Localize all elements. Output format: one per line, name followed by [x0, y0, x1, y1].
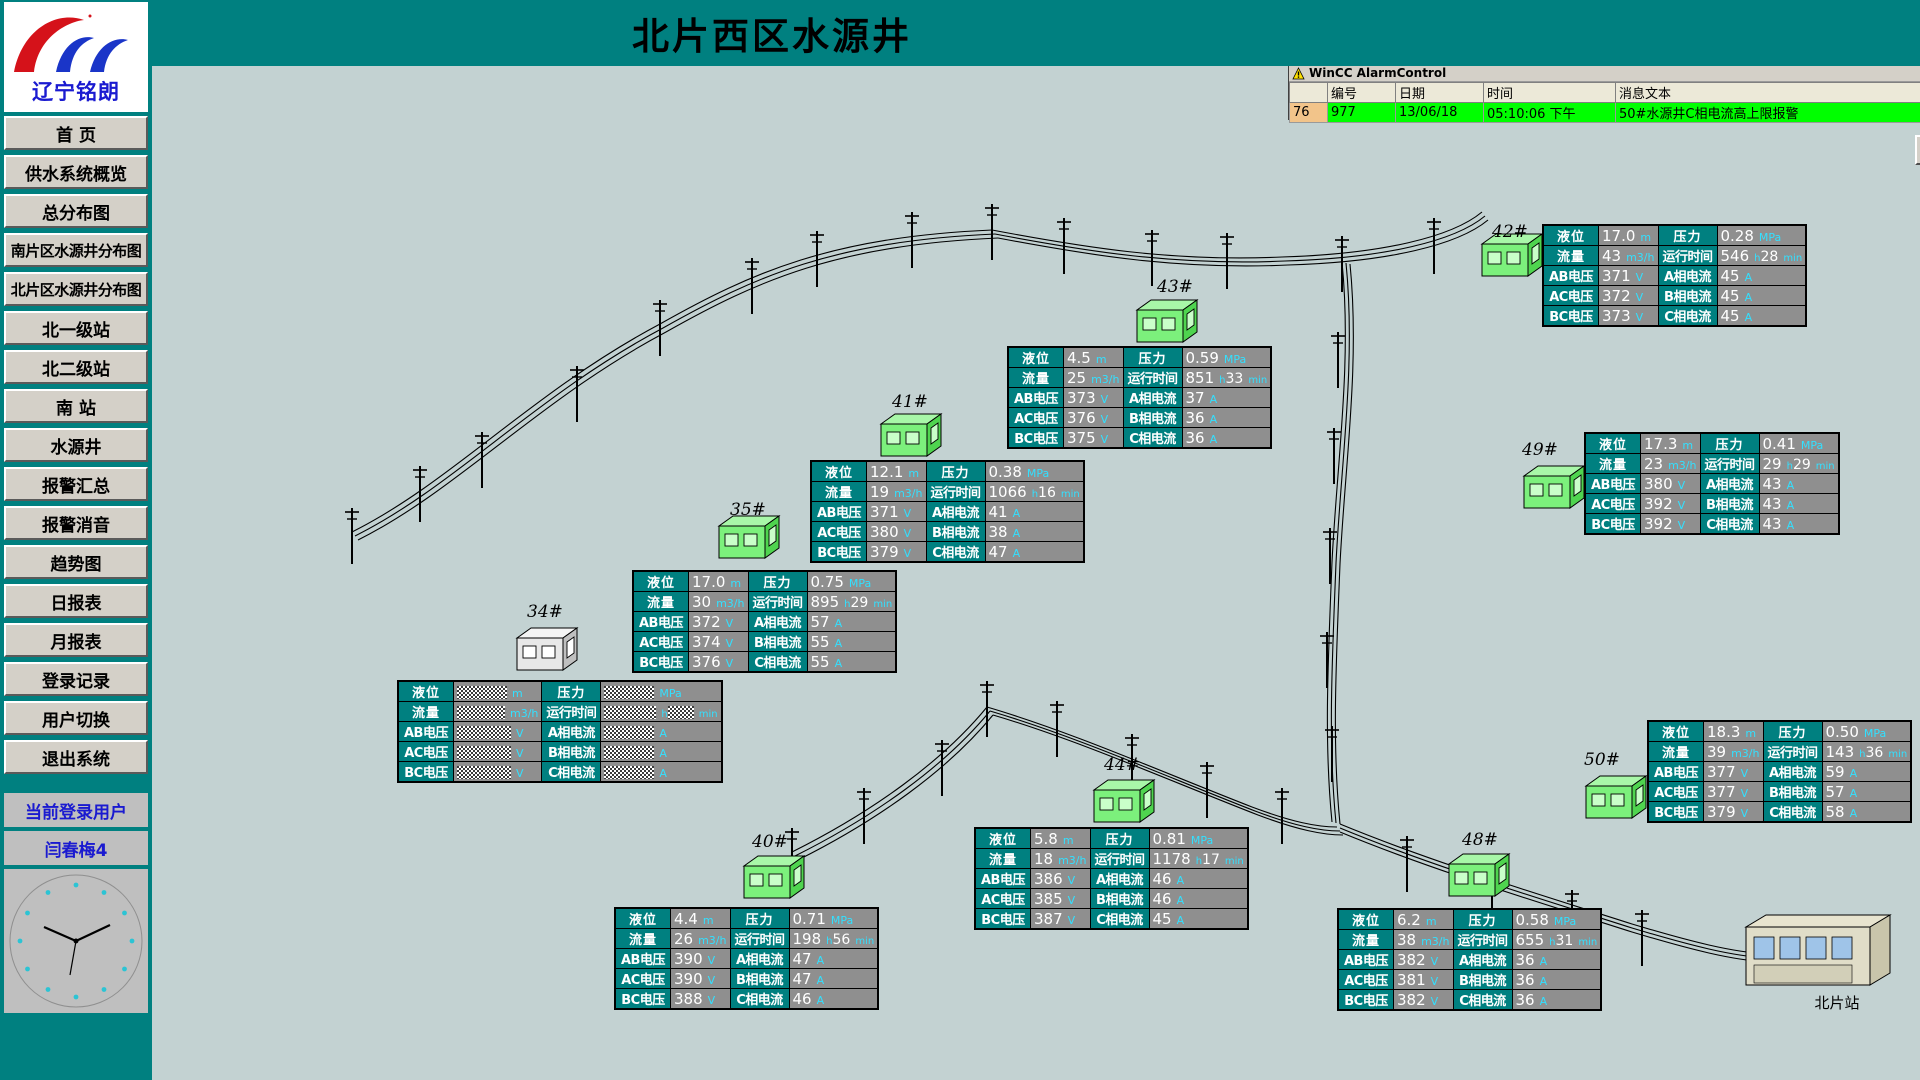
label-c-current: C相电流 — [542, 762, 600, 781]
unit-c_current: A — [830, 657, 843, 670]
label-bc-voltage: BC电压 — [634, 652, 688, 671]
number-bc_voltage: 388 — [674, 990, 703, 1008]
label-b-current: B相电流 — [542, 742, 600, 761]
number-flow: 23 — [1644, 455, 1663, 473]
label-pressure: 压力 — [1124, 348, 1182, 367]
alarm-column-header-2[interactable]: 日期 — [1396, 83, 1484, 103]
well-table-grid: 液位12.1m压力0.38MPa流量19m3/h运行时间1066h16minAB… — [811, 461, 1084, 562]
label-level: 液位 — [634, 572, 688, 591]
value-ab_voltage: 373V — [1064, 388, 1123, 407]
label-ab-voltage: AB电压 — [1586, 474, 1640, 493]
sidebar: 辽宁铭朗 首 页供水系统概览总分布图南片区水源井分布图北片区水源井分布图北一级站… — [0, 0, 152, 1080]
value-flow: 39m3/h — [1704, 742, 1763, 761]
number-c_current: 46 — [793, 990, 812, 1008]
well-data-table-48: 液位6.2m压力0.58MPa流量38m3/h运行时间655h31minAB电压… — [1337, 908, 1602, 1011]
sidebar-item-alarm-mute[interactable]: 报警消音 — [4, 506, 148, 540]
table-row-flow: 流量19m3/h运行时间1066h16min — [812, 482, 1083, 501]
unit-pressure: MPa — [826, 914, 853, 927]
value-pressure: 0.50MPa — [1823, 722, 1911, 741]
alarm-body[interactable]: 7697713/06/1805:10:06 下午50#水源井C相电流高上限报警 — [1290, 103, 1920, 123]
number-runtime-min: 56 — [832, 932, 850, 948]
unit-pressure: MPa — [1754, 231, 1781, 244]
value-ac_voltage: 377V — [1704, 782, 1763, 801]
alarm-table[interactable]: 编号日期时间消息文本 7697713/06/1805:10:06 下午50#水源… — [1289, 82, 1920, 123]
number-level: 12.1 — [870, 463, 903, 481]
alarm-window-title: WinCC AlarmControl — [1309, 66, 1446, 80]
label-flow: 流量 — [1586, 454, 1640, 473]
pump-house-34[interactable] — [515, 624, 581, 674]
number-bc_voltage: 379 — [870, 543, 899, 561]
value-ac_voltage: 385V — [1031, 889, 1090, 908]
unit-a_current: A — [1535, 955, 1548, 968]
unit-a_current: A — [1172, 874, 1185, 887]
label-a-current: A相电流 — [927, 502, 985, 521]
number-ac_voltage: 376 — [1067, 409, 1096, 427]
alarm-column-header-4[interactable]: 消息文本 — [1616, 83, 1920, 103]
well-data-table-43: 液位4.5m压力0.59MPa流量25m3/h运行时间851h33minAB电压… — [1007, 346, 1272, 449]
unit-runtime-hours: h — [1214, 375, 1225, 386]
number-a_current: 57 — [811, 613, 830, 631]
label-b-current: B相电流 — [1659, 286, 1717, 305]
table-row-flow: 流量23m3/h运行时间29h29min — [1586, 454, 1838, 473]
value-ac_voltage: 390V — [671, 969, 730, 988]
unit-flow: m3/h — [889, 487, 922, 500]
unit-level: m — [1677, 439, 1693, 452]
table-row-ab: AB电压VA相电流A — [399, 722, 721, 741]
number-ab_voltage: 390 — [674, 950, 703, 968]
label-a-current: A相电流 — [542, 722, 600, 741]
value-runtime: 143h36min — [1823, 742, 1911, 761]
number-runtime-h: 29 — [1763, 455, 1782, 473]
sidebar-item-south-station[interactable]: 南 站 — [4, 389, 148, 423]
value-b_current: 43A — [1760, 494, 1838, 513]
table-row-level: 液位m压力MPa — [399, 682, 721, 701]
table-row-bc: BC电压376VC相电流55A — [634, 652, 895, 671]
value-bc_voltage: 373V — [1599, 306, 1658, 325]
alarm-header-row[interactable]: 编号日期时间消息文本 — [1290, 83, 1920, 103]
label-a-current: A相电流 — [1454, 950, 1512, 969]
sidebar-item-water-wells[interactable]: 水源井 — [4, 428, 148, 462]
label-runtime: 运行时间 — [731, 929, 789, 948]
unit-ab_voltage: V — [1631, 271, 1644, 284]
unit-b_current: A — [1172, 894, 1185, 907]
number-ab_voltage: 382 — [1397, 951, 1426, 969]
unit-flow: m3/h — [1053, 854, 1086, 867]
unit-ac_voltage: V — [721, 637, 734, 650]
value-b_current: 36A — [1183, 408, 1271, 427]
well-table-grid: 液位4.5m压力0.59MPa流量25m3/h运行时间851h33minAB电压… — [1008, 347, 1271, 448]
well-table-grid: 液位4.4m压力0.71MPa流量26m3/h运行时间198h56minAB电压… — [615, 908, 878, 1009]
unit-b_current: A — [1008, 527, 1021, 540]
label-b-current: B相电流 — [1091, 889, 1149, 908]
label-ac-voltage: AC电压 — [399, 742, 453, 761]
value-bc_voltage: 379V — [1704, 802, 1763, 821]
value-ab_voltage: 382V — [1394, 950, 1453, 969]
label-ab-voltage: AB电压 — [812, 502, 866, 521]
sidebar-item-north-level1-station[interactable]: 北一级站 — [4, 311, 148, 345]
unit-runtime-hours: h — [656, 709, 667, 720]
well-data-table-41: 液位12.1m压力0.38MPa流量19m3/h运行时间1066h16minAB… — [810, 460, 1085, 563]
alarm-titlebar: WinCC AlarmControl _ □ × — [1289, 65, 1920, 82]
well-data-table-44: 液位5.8m压力0.81MPa流量18m3/h运行时间1178h17minAB电… — [974, 827, 1249, 930]
label-bc-voltage: BC电压 — [1009, 428, 1063, 447]
value-pressure: 0.28MPa — [1718, 226, 1806, 245]
number-c_current: 43 — [1763, 515, 1782, 533]
unit-bc_voltage: V — [1631, 311, 1644, 324]
value-c_current: 43A — [1760, 514, 1838, 533]
number-runtime-min: 33 — [1225, 371, 1243, 387]
label-level: 液位 — [399, 682, 453, 701]
value-bc_voltage: 388V — [671, 989, 730, 1008]
number-runtime-h: 546 — [1721, 247, 1750, 265]
label-ab-voltage: AB电压 — [616, 949, 670, 968]
label-c-current: C相电流 — [749, 652, 807, 671]
label-flow: 流量 — [1544, 246, 1598, 265]
label-ac-voltage: AC电压 — [1339, 970, 1393, 989]
value-c_current: 55A — [808, 652, 896, 671]
number-bc_voltage: 392 — [1644, 515, 1673, 533]
unit-c_current: A — [1535, 995, 1548, 1008]
unit-level: m — [1421, 915, 1437, 928]
number-b_current: 45 — [1721, 287, 1740, 305]
label-ab-voltage: AB电压 — [1649, 762, 1703, 781]
label-c-current: C相电流 — [1091, 909, 1149, 928]
value-b_current: 46A — [1150, 889, 1247, 908]
unit-a_current: A — [812, 954, 825, 967]
number-a_current: 43 — [1763, 475, 1782, 493]
number-level: 17.0 — [692, 573, 725, 591]
table-row-ac: AC电压392VB相电流43A — [1586, 494, 1838, 513]
pump-house-43[interactable] — [1135, 296, 1201, 346]
label-a-current: A相电流 — [731, 949, 789, 968]
table-row-level: 液位6.2m压力0.58MPa — [1339, 910, 1600, 929]
table-row-bc: BC电压379VC相电流58A — [1649, 802, 1910, 821]
unit-flow: m3/h — [1621, 251, 1654, 264]
pump-house-50[interactable] — [1584, 772, 1650, 822]
number-runtime-h: 851 — [1186, 369, 1215, 387]
label-flow: 流量 — [812, 482, 866, 501]
east-zone-nav-button[interactable]: 北片东区水源井 — [1915, 135, 1920, 165]
label-c-current: C相电流 — [1124, 428, 1182, 447]
number-c_current: 45 — [1153, 910, 1172, 928]
label-runtime: 运行时间 — [1659, 246, 1717, 265]
value-a_current: 36A — [1513, 950, 1601, 969]
well-tag-50: 50# — [1584, 750, 1620, 770]
no-data-pattern — [604, 726, 654, 739]
number-bc_voltage: 382 — [1397, 991, 1426, 1009]
unit-bc_voltage: V — [1063, 914, 1076, 927]
label-pressure: 压力 — [1764, 722, 1822, 741]
unit-pressure: MPa — [1796, 439, 1823, 452]
unit-ac_voltage: V — [1736, 787, 1749, 800]
well-data-table-40: 液位4.4m压力0.71MPa流量26m3/h运行时间198h56minAB电压… — [614, 907, 879, 1010]
value-a_current: 57A — [808, 612, 896, 631]
number-ac_voltage: 374 — [692, 633, 721, 651]
unit-level: m — [1091, 353, 1107, 366]
unit-a_current: A — [1205, 393, 1218, 406]
label-ab-voltage: AB电压 — [634, 612, 688, 631]
unit-ab_voltage: V — [1096, 393, 1109, 406]
alarm-column-header-0[interactable] — [1290, 83, 1328, 103]
unit-level: m — [1635, 231, 1651, 244]
unit-a_current: A — [1008, 507, 1021, 520]
value-c_current: 58A — [1823, 802, 1911, 821]
table-row-ab: AB电压373VA相电流37A — [1009, 388, 1270, 407]
well-tag-41: 41# — [892, 392, 928, 412]
well-data-table-49: 液位17.3m压力0.41MPa流量23m3/h运行时间29h29minAB电压… — [1584, 432, 1840, 535]
alarm-cell-date: 13/06/18 — [1396, 103, 1484, 123]
unit-ac_voltage: V — [1063, 894, 1076, 907]
unit-bc_voltage: V — [703, 994, 716, 1007]
unit-ac_voltage: V — [1426, 975, 1439, 988]
table-row-level: 液位5.8m压力0.81MPa — [976, 829, 1247, 848]
number-a_current: 45 — [1721, 267, 1740, 285]
number-ac_voltage: 377 — [1707, 783, 1736, 801]
unit-runtime-hours: h — [839, 599, 850, 610]
well-table-grid: 液位18.3m压力0.50MPa流量39m3/h运行时间143h36minAB电… — [1648, 721, 1911, 822]
analog-clock — [4, 869, 148, 1013]
table-row-flow: 流量m3/h运行时间hmin — [399, 702, 721, 721]
label-pressure: 压力 — [1701, 434, 1759, 453]
pump-house-44[interactable] — [1092, 776, 1158, 826]
logo-text: 辽宁铭朗 — [4, 76, 148, 106]
pump-house-49[interactable] — [1522, 462, 1588, 512]
value-a_current: 45A — [1718, 266, 1806, 285]
table-row-level: 液位4.4m压力0.71MPa — [616, 909, 877, 928]
well-tag-43: 43# — [1157, 277, 1193, 297]
table-row-ac: AC电压381VB相电流36A — [1339, 970, 1600, 989]
unit-a_current: A — [1845, 767, 1858, 780]
no-data-pattern — [604, 706, 656, 719]
unit-c_current: A — [812, 994, 825, 1007]
label-b-current: B相电流 — [1124, 408, 1182, 427]
value-c_current: 45A — [1718, 306, 1806, 325]
value-c_current: 45A — [1150, 909, 1247, 928]
unit-b_current: A — [1782, 499, 1795, 512]
pump-house-48[interactable] — [1447, 850, 1513, 900]
alarm-column-header-1[interactable]: 编号 — [1328, 83, 1396, 103]
alarm-column-header-3[interactable]: 时间 — [1484, 83, 1616, 103]
unit-pressure: MPa — [1549, 915, 1576, 928]
unit-runtime-minutes: min — [850, 936, 874, 947]
number-c_current: 45 — [1721, 307, 1740, 325]
label-pressure: 压力 — [927, 462, 985, 481]
number-ac_voltage: 381 — [1397, 971, 1426, 989]
table-row-flow: 流量43m3/h运行时间546h28min — [1544, 246, 1805, 265]
table-row-ac: AC电压374VB相电流55A — [634, 632, 895, 651]
unit-b_current: A — [830, 637, 843, 650]
value-ab_voltage: 371V — [867, 502, 926, 521]
label-bc-voltage: BC电压 — [1339, 990, 1393, 1009]
alarm-cell-time: 05:10:06 下午 — [1484, 103, 1616, 123]
label-bc-voltage: BC电压 — [399, 762, 453, 781]
number-a_current: 46 — [1153, 870, 1172, 888]
table-row-flow: 流量38m3/h运行时间655h31min — [1339, 930, 1600, 949]
label-flow: 流量 — [976, 849, 1030, 868]
header-bar: 北片西区水源井 — [152, 0, 1920, 66]
pump-house-41[interactable] — [879, 410, 945, 460]
label-level: 液位 — [1586, 434, 1640, 453]
no-data-pattern — [604, 766, 654, 779]
value-level: m — [454, 682, 541, 701]
unit-a_current: A — [1782, 479, 1795, 492]
unit-a_current: A — [654, 727, 667, 740]
table-row-ac: AC电压385VB相电流46A — [976, 889, 1247, 908]
unit-c_current: A — [1845, 807, 1858, 820]
number-ac_voltage: 392 — [1644, 495, 1673, 513]
value-c_current: 36A — [1513, 990, 1601, 1009]
number-b_current: 47 — [793, 970, 812, 988]
value-ab_voltage: 380V — [1641, 474, 1700, 493]
sidebar-item-home[interactable]: 首 页 — [4, 116, 148, 150]
number-ab_voltage: 377 — [1707, 763, 1736, 781]
label-flow: 流量 — [399, 702, 453, 721]
number-a_current: 41 — [989, 503, 1008, 521]
label-ac-voltage: AC电压 — [634, 632, 688, 651]
value-c_current: 46A — [790, 989, 878, 1008]
unit-b_current: A — [1740, 291, 1753, 304]
table-row-level: 液位18.3m压力0.50MPa — [1649, 722, 1910, 741]
value-level: 12.1m — [867, 462, 926, 481]
value-b_current: 55A — [808, 632, 896, 651]
value-bc_voltage: 376V — [689, 652, 748, 671]
alarm-cell-index: 76 — [1290, 103, 1328, 123]
sidebar-item-login-log[interactable]: 登录记录 — [4, 662, 148, 696]
table-row-level: 液位17.0m压力0.75MPa — [634, 572, 895, 591]
value-ac_voltage: V — [454, 742, 541, 761]
unit-pressure: MPa — [1219, 353, 1246, 366]
well-tag-42: 42# — [1492, 222, 1528, 242]
number-pressure: 0.81 — [1153, 830, 1186, 848]
pump-house-graphic — [515, 624, 581, 674]
number-flow: 26 — [674, 930, 693, 948]
table-row-level: 液位12.1m压力0.38MPa — [812, 462, 1083, 481]
label-ab-voltage: AB电压 — [976, 869, 1030, 888]
number-runtime-h: 1066 — [989, 483, 1027, 501]
value-a_current: 41A — [986, 502, 1083, 521]
number-pressure: 0.59 — [1186, 349, 1219, 367]
unit-runtime-hours: h — [1544, 937, 1555, 948]
value-flow: 23m3/h — [1641, 454, 1700, 473]
table-row-bc: BC电压379VC相电流47A — [812, 542, 1083, 561]
table-row-ac: AC电压VB相电流A — [399, 742, 721, 761]
table-row-ab: AB电压386VA相电流46A — [976, 869, 1247, 888]
label-bc-voltage: BC电压 — [1544, 306, 1598, 325]
table-row-ab: AB电压377VA相电流59A — [1649, 762, 1910, 781]
sidebar-item-north-wells-map[interactable]: 北片区水源井分布图 — [4, 272, 148, 306]
number-level: 5.8 — [1034, 830, 1058, 848]
wincc-alarm-control[interactable]: WinCC AlarmControl _ □ × 编号日期时间消息文本 7697… — [1288, 64, 1920, 120]
unit-bc_voltage: V — [899, 547, 912, 560]
label-ab-voltage: AB电压 — [1009, 388, 1063, 407]
pump-house-graphic — [879, 410, 945, 460]
value-bc_voltage: 375V — [1064, 428, 1123, 447]
unit-a_current: A — [830, 617, 843, 630]
unit-flow: m3/h — [693, 934, 726, 947]
sidebar-item-exit-system[interactable]: 退出系统 — [4, 740, 148, 774]
value-b_current: 57A — [1823, 782, 1911, 801]
value-b_current: 45A — [1718, 286, 1806, 305]
value-a_current: 43A — [1760, 474, 1838, 493]
unit-ab_voltage: V — [1673, 479, 1686, 492]
unit-pressure: MPa — [1859, 727, 1886, 740]
table-row-flow: 流量18m3/h运行时间1178h17min — [976, 849, 1247, 868]
well-table-grid: 液位5.8m压力0.81MPa流量18m3/h运行时间1178h17minAB电… — [975, 828, 1248, 929]
unit-level: m — [903, 467, 919, 480]
unit-runtime-hours: h — [1782, 461, 1793, 472]
table-row-flow: 流量39m3/h运行时间143h36min — [1649, 742, 1910, 761]
number-pressure: 0.41 — [1763, 435, 1796, 453]
value-ab_voltage: 372V — [689, 612, 748, 631]
sidebar-item-supply-overview[interactable]: 供水系统概览 — [4, 155, 148, 189]
unit-b_current: A — [1535, 975, 1548, 988]
unit-flow: m3/h — [505, 707, 538, 720]
unit-runtime-hours: h — [1749, 253, 1760, 264]
sidebar-item-daily-report[interactable]: 日报表 — [4, 584, 148, 618]
unit-bc_voltage: V — [511, 767, 524, 780]
unit-runtime-hours: h — [1191, 856, 1202, 867]
unit-c_current: A — [1782, 519, 1795, 532]
sidebar-item-north-level2-station[interactable]: 北二级站 — [4, 350, 148, 384]
well-tag-35: 35# — [730, 500, 766, 520]
value-pressure: 0.71MPa — [790, 909, 878, 928]
pump-house-graphic — [1584, 772, 1650, 822]
number-runtime-h: 143 — [1826, 743, 1855, 761]
value-b_current: 47A — [790, 969, 878, 988]
mimic-canvas-inner: WinCC AlarmControl _ □ × 编号日期时间消息文本 7697… — [152, 62, 1920, 1080]
unit-bc_voltage: V — [1426, 995, 1439, 1008]
table-row-flow: 流量26m3/h运行时间198h56min — [616, 929, 877, 948]
value-flow: 26m3/h — [671, 929, 730, 948]
sidebar-item-south-wells-map[interactable]: 南片区水源井分布图 — [4, 233, 148, 267]
number-ac_voltage: 372 — [1602, 287, 1631, 305]
unit-ac_voltage: V — [511, 747, 524, 760]
label-level: 液位 — [1649, 722, 1703, 741]
value-a_current: A — [601, 722, 720, 741]
well-tag-48: 48# — [1462, 830, 1498, 850]
label-c-current: C相电流 — [1701, 514, 1759, 533]
label-ab-voltage: AB电压 — [1339, 950, 1393, 969]
value-runtime: 1178h17min — [1150, 849, 1247, 868]
value-bc_voltage: 387V — [1031, 909, 1090, 928]
sidebar-item-overall-distribution[interactable]: 总分布图 — [4, 194, 148, 228]
alarm-row[interactable]: 7697713/06/1805:10:06 下午50#水源井C相电流高上限报警 — [1290, 103, 1920, 123]
sidebar-item-switch-user[interactable]: 用户切换 — [4, 701, 148, 735]
sidebar-item-alarm-summary[interactable]: 报警汇总 — [4, 467, 148, 501]
label-ab-voltage: AB电压 — [1544, 266, 1598, 285]
sidebar-item-trend-chart[interactable]: 趋势图 — [4, 545, 148, 579]
value-b_current: 38A — [986, 522, 1083, 541]
number-a_current: 36 — [1516, 951, 1535, 969]
unit-ac_voltage: V — [1096, 413, 1109, 426]
number-bc_voltage: 379 — [1707, 803, 1736, 821]
pump-house-graphic — [1522, 462, 1588, 512]
number-c_current: 36 — [1186, 429, 1205, 447]
unit-ac_voltage: V — [703, 974, 716, 987]
table-row-bc: BC电压382VC相电流36A — [1339, 990, 1600, 1009]
value-c_current: A — [601, 762, 720, 781]
number-b_current: 55 — [811, 633, 830, 651]
number-flow: 38 — [1397, 931, 1416, 949]
pump-house-40[interactable] — [742, 852, 808, 902]
value-runtime: 198h56min — [790, 929, 878, 948]
table-row-ab: AB电压390VA相电流47A — [616, 949, 877, 968]
value-pressure: 0.58MPa — [1513, 910, 1601, 929]
label-pressure: 压力 — [1091, 829, 1149, 848]
sidebar-item-monthly-report[interactable]: 月报表 — [4, 623, 148, 657]
alarm-cell-message: 50#水源井C相电流高上限报警 — [1616, 103, 1920, 123]
unit-runtime-minutes: min — [1243, 375, 1267, 386]
